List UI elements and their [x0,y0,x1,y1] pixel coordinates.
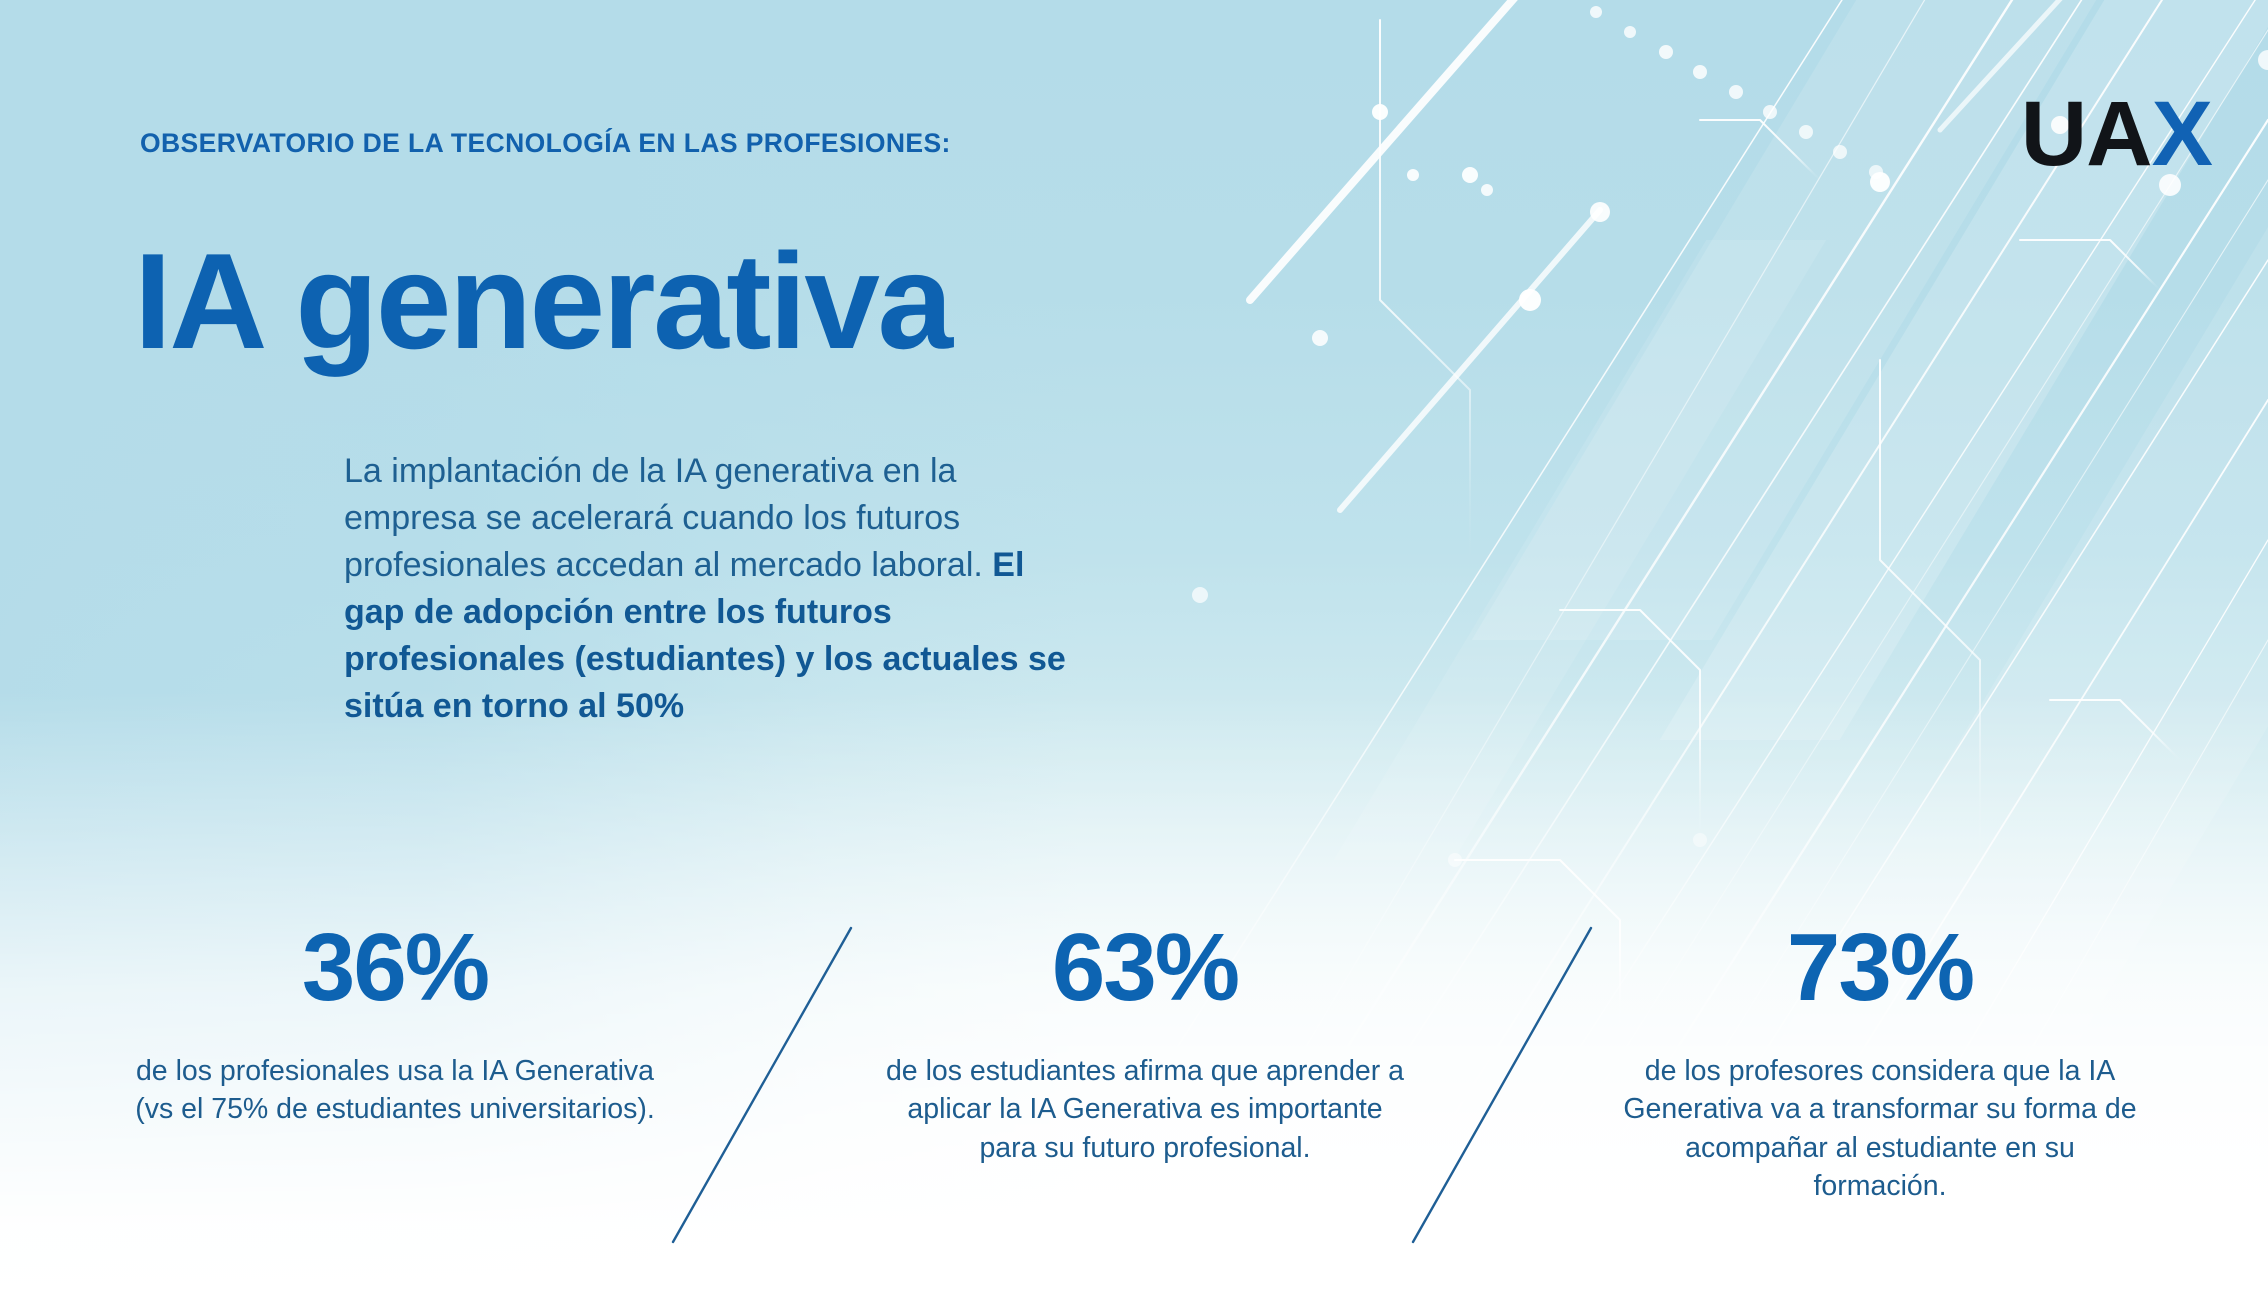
stat-block: 63% de los estudiantes afirma que aprend… [885,920,1405,1167]
uax-logo: UAX [2021,88,2212,180]
stat-value: 63% [885,920,1405,1016]
stat-description: de los estudiantes afirma que aprender a… [885,1052,1405,1167]
stat-divider [1395,920,1615,1250]
stat-description: de los profesores considera que la IA Ge… [1620,1052,2140,1206]
statistics-row: 36% de los profesionales usa la IA Gener… [0,920,2268,1250]
page-title: IA generativa [134,232,951,371]
logo-text-ua: UA [2021,83,2152,185]
stat-value: 73% [1620,920,2140,1016]
logo-text-x: X [2152,83,2212,185]
diagonal-divider-line [655,920,875,1250]
lede-normal-text: La implantación de la IA generativa en l… [344,452,992,584]
stat-divider [655,920,875,1250]
infographic-poster: UAX OBSERVATORIO DE LA TECNOLOGÍA EN LAS… [0,0,2268,1311]
stat-description: de los profesionales usa la IA Generativ… [135,1052,655,1129]
stat-block: 36% de los profesionales usa la IA Gener… [135,920,655,1129]
bg-panel [1334,240,1827,860]
stat-value: 36% [135,920,655,1016]
lede-paragraph: La implantación de la IA generativa en l… [344,448,1074,729]
stat-block: 73% de los profesores considera que la I… [1620,920,2140,1206]
diagonal-divider-line [1395,920,1615,1250]
eyebrow-label: OBSERVATORIO DE LA TECNOLOGÍA EN LAS PRO… [140,128,951,159]
